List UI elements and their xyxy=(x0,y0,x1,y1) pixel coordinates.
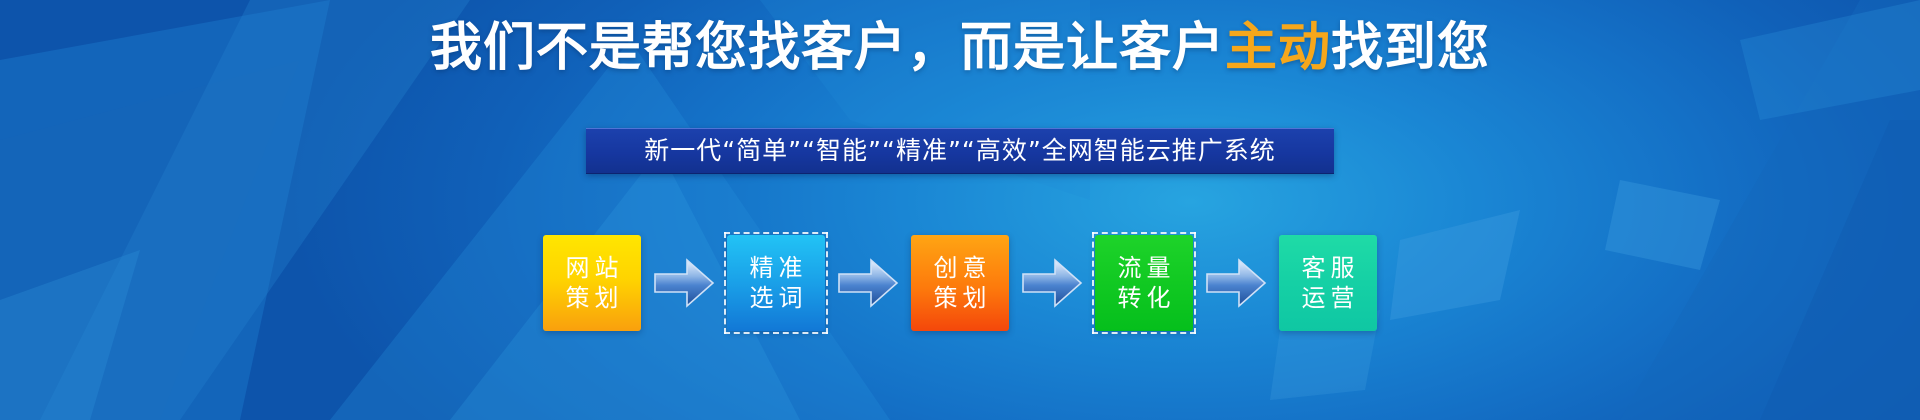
banner-headline: 我们不是帮您找客户，而是让客户主动找到您 xyxy=(0,18,1920,78)
marker-right xyxy=(826,232,828,334)
step-label-line1: 网站 xyxy=(561,253,624,283)
step-label-line1: 流量 xyxy=(1113,253,1176,283)
step-label-line2: 策划 xyxy=(929,283,992,313)
step-website-planning[interactable]: 网站 策划 xyxy=(543,235,641,331)
step-label-line2: 转化 xyxy=(1113,283,1176,313)
step-label-line2: 运营 xyxy=(1297,283,1360,313)
process-flow: 网站 策划 精准 选词 xyxy=(543,228,1377,338)
step-label-line2: 选词 xyxy=(745,283,808,313)
headline-part1: 我们不是帮您找客户，而是让客户 xyxy=(430,18,1225,78)
step-label-line2: 策划 xyxy=(561,283,624,313)
step-customer-service[interactable]: 客服 运营 xyxy=(1279,235,1377,331)
marker-right xyxy=(1194,232,1196,334)
flow-arrow-1 xyxy=(653,256,715,310)
step-label-line1: 客服 xyxy=(1297,253,1360,283)
flow-arrow-4 xyxy=(1205,256,1267,310)
step-keyword-selection[interactable]: 精准 选词 xyxy=(727,235,825,331)
step-traffic-conversion[interactable]: 流量 转化 xyxy=(1095,235,1193,331)
step-label-line1: 创意 xyxy=(929,253,992,283)
headline-part2: 找到您 xyxy=(1331,18,1490,78)
headline-highlight: 主动 xyxy=(1225,18,1331,78)
subtitle-ribbon: 新一代“简单”“智能”“精准”“高效”全网智能云推广系统 xyxy=(586,128,1334,174)
marker-left xyxy=(724,232,726,334)
marker-left xyxy=(1092,232,1094,334)
flow-arrow-3 xyxy=(1021,256,1083,310)
step-creative-planning[interactable]: 创意 策划 xyxy=(911,235,1009,331)
step-label-line1: 精准 xyxy=(745,253,808,283)
promo-banner: 我们不是帮您找客户，而是让客户主动找到您 新一代“简单”“智能”“精准”“高效”… xyxy=(0,0,1920,420)
flow-arrow-2 xyxy=(837,256,899,310)
subtitle-text: 新一代“简单”“智能”“精准”“高效”全网智能云推广系统 xyxy=(644,129,1276,173)
